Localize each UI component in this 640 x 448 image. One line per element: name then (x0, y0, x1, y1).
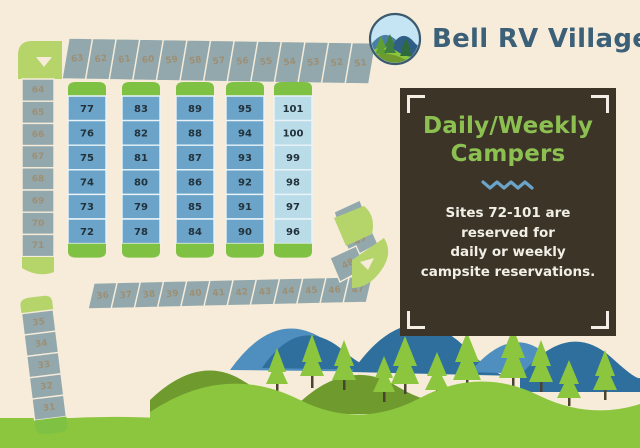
road-label-54: 54 (283, 57, 297, 69)
site-column-101-96-cap-top (274, 82, 312, 96)
road-label-46: 46 (328, 285, 342, 296)
site-label-94: 94 (238, 128, 252, 139)
panel-corner-top-right (591, 95, 609, 113)
road-label-31: 31 (42, 403, 56, 414)
road-label-68: 68 (32, 174, 45, 184)
site-label-85: 85 (188, 202, 202, 213)
site-label-95: 95 (238, 104, 252, 115)
site-label-101: 101 (283, 104, 304, 115)
site-label-77: 77 (80, 104, 94, 115)
road-label-61: 61 (118, 54, 132, 66)
site-label-72: 72 (80, 227, 94, 238)
panel-body-line-2: reserved for (416, 224, 600, 244)
site-label-96: 96 (286, 227, 300, 238)
site-column-77-72: 777675747372 (68, 82, 106, 258)
road-label-44: 44 (281, 286, 295, 297)
road-label-51: 51 (354, 58, 368, 70)
site-label-83: 83 (134, 104, 148, 115)
road-label-43: 43 (258, 287, 272, 298)
road-label-59: 59 (165, 55, 179, 67)
road-label-36: 36 (96, 291, 110, 302)
site-label-99: 99 (286, 153, 300, 164)
site-label-87: 87 (188, 153, 202, 164)
road-label-41: 41 (212, 288, 226, 299)
road-label-53: 53 (306, 57, 320, 69)
road-label-60: 60 (141, 55, 155, 67)
top-road-row: 63626160595857565554535251 (62, 38, 376, 84)
site-label-91: 91 (238, 202, 252, 213)
road-label-65: 65 (32, 108, 45, 118)
panel-corner-top-left (407, 95, 425, 113)
site-column-101-96: 10110099989796 (274, 82, 312, 258)
site-columns: 7776757473728382818079788988878685849594… (68, 82, 312, 258)
panel-heading-line-2: Campers (412, 140, 604, 168)
site-label-88: 88 (188, 128, 202, 139)
site-label-79: 79 (134, 202, 148, 213)
site-label-80: 80 (134, 178, 148, 189)
road-label-34: 34 (35, 339, 49, 350)
info-panel: Daily/Weekly Campers Sites 72-101 are re… (400, 88, 616, 336)
site-label-82: 82 (134, 128, 148, 139)
site-label-74: 74 (80, 178, 94, 189)
road-label-69: 69 (32, 197, 45, 207)
site-label-84: 84 (188, 227, 202, 238)
ground-left (0, 417, 160, 448)
site-label-89: 89 (188, 104, 202, 115)
site-column-89-84-cap-bottom (176, 244, 214, 258)
road-label-37: 37 (119, 290, 133, 301)
panel-heading-line-1: Daily/Weekly (412, 112, 604, 140)
road-label-35: 35 (32, 317, 46, 328)
site-column-95-90-cap-bottom (226, 244, 264, 258)
site-label-97: 97 (286, 202, 300, 213)
road-label-33: 33 (37, 360, 51, 371)
site-column-83-78-cap-bottom (122, 244, 160, 258)
road-label-67: 67 (32, 152, 45, 162)
site-label-75: 75 (80, 153, 94, 164)
site-label-100: 100 (283, 128, 304, 139)
road-label-71: 71 (32, 241, 45, 251)
site-label-93: 93 (238, 153, 252, 164)
road-label-38: 38 (142, 289, 156, 300)
site-label-73: 73 (80, 202, 94, 213)
panel-body-line-3: daily or weekly (416, 243, 600, 263)
panel-body-line-4: campsite reservations. (416, 263, 600, 283)
panel-corner-bottom-right (591, 311, 609, 329)
site-label-86: 86 (188, 178, 202, 189)
site-label-78: 78 (134, 227, 148, 238)
road-label-57: 57 (212, 56, 226, 68)
road-label-66: 66 (32, 130, 45, 140)
zigzag-divider-icon (480, 178, 536, 190)
mountain-landscape-logo-icon (368, 12, 422, 66)
site-column-83-78-cap-top (122, 82, 160, 96)
road-label-58: 58 (188, 55, 202, 67)
panel-body-line-1: Sites 72-101 are (416, 204, 600, 224)
road-label-55: 55 (259, 56, 273, 68)
road-label-39: 39 (165, 289, 179, 300)
road-label-64: 64 (32, 86, 45, 96)
brand-title: Bell RV Village (432, 24, 640, 54)
site-column-95-90-cap-top (226, 82, 264, 96)
site-column-89-84-cap-top (176, 82, 214, 96)
road-label-56: 56 (236, 56, 250, 68)
site-column-83-78: 838281807978 (122, 82, 160, 258)
panel-body: Sites 72-101 are reserved for daily or w… (412, 204, 604, 282)
road-label-70: 70 (32, 219, 45, 229)
panel-corner-bottom-left (407, 311, 425, 329)
site-label-92: 92 (238, 178, 252, 189)
panel-heading: Daily/Weekly Campers (412, 112, 604, 168)
site-label-90: 90 (238, 227, 252, 238)
road-label-32: 32 (40, 381, 54, 392)
site-column-77-72-cap-top (68, 82, 106, 96)
site-column-89-84: 898887868584 (176, 82, 214, 258)
site-label-76: 76 (80, 128, 94, 139)
road-label-42: 42 (235, 287, 249, 298)
road-label-63: 63 (70, 53, 84, 65)
site-label-98: 98 (286, 178, 300, 189)
road-label-62: 62 (94, 54, 108, 66)
brand-header: Bell RV Village (368, 12, 640, 66)
left-road-column: 6465666768697071 (22, 79, 54, 274)
site-column-77-72-cap-bottom (68, 244, 106, 258)
road-label-40: 40 (189, 288, 203, 299)
site-column-95-90: 959493929190 (226, 82, 264, 258)
entrance-arrow-top-left[interactable] (18, 41, 62, 79)
road-label-45: 45 (305, 286, 319, 297)
site-column-101-96-cap-bottom (274, 244, 312, 258)
road-label-52: 52 (330, 58, 344, 70)
site-label-81: 81 (134, 153, 148, 164)
